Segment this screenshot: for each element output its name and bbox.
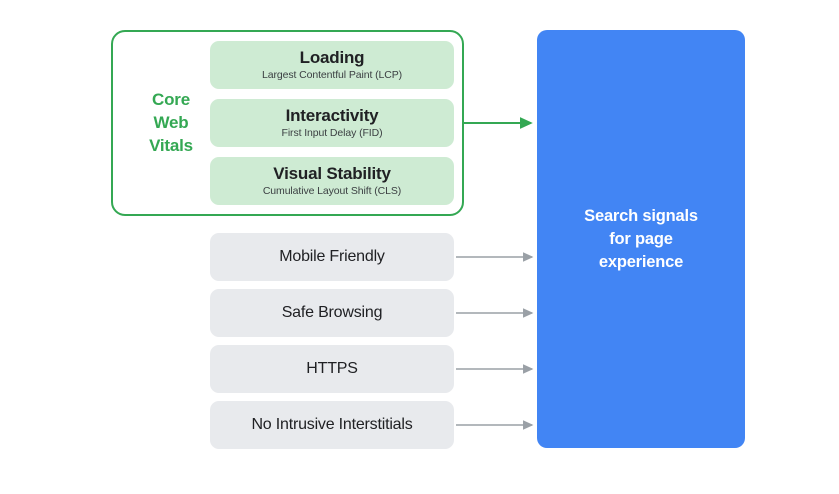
signal-label: Mobile Friendly [279,248,385,266]
outcome-label: Search signals for page experience [584,205,698,274]
metric-card-visual-stability: Visual Stability Cumulative Layout Shift… [210,157,454,205]
core-web-vitals-label-line-2: Web [136,111,206,134]
signal-label: Safe Browsing [282,304,383,322]
metric-card-interactivity: Interactivity First Input Delay (FID) [210,99,454,147]
signal-label: No Intrusive Interstitials [251,416,412,434]
signal-card-safe-browsing: Safe Browsing [210,289,454,337]
core-web-vitals-label-line-3: Vitals [136,134,206,157]
metric-subtitle: Largest Contentful Paint (LCP) [262,68,402,82]
core-web-vitals-label-line-1: Core [136,88,206,111]
metric-card-loading: Loading Largest Contentful Paint (LCP) [210,41,454,89]
signal-card-mobile-friendly: Mobile Friendly [210,233,454,281]
core-web-vitals-group-label: Core Web Vitals [136,88,206,157]
metric-subtitle: First Input Delay (FID) [282,126,383,140]
signal-label: HTTPS [306,360,357,378]
metric-title: Loading [300,48,365,68]
signal-card-no-intrusive-interstitials: No Intrusive Interstitials [210,401,454,449]
metric-title: Visual Stability [273,164,390,184]
metric-subtitle: Cumulative Layout Shift (CLS) [263,184,401,198]
metric-title: Interactivity [286,106,379,126]
signal-card-https: HTTPS [210,345,454,393]
outcome-card-search-signals: Search signals for page experience [537,30,745,448]
diagram-canvas: Core Web Vitals Loading Largest Contentf… [0,0,839,494]
